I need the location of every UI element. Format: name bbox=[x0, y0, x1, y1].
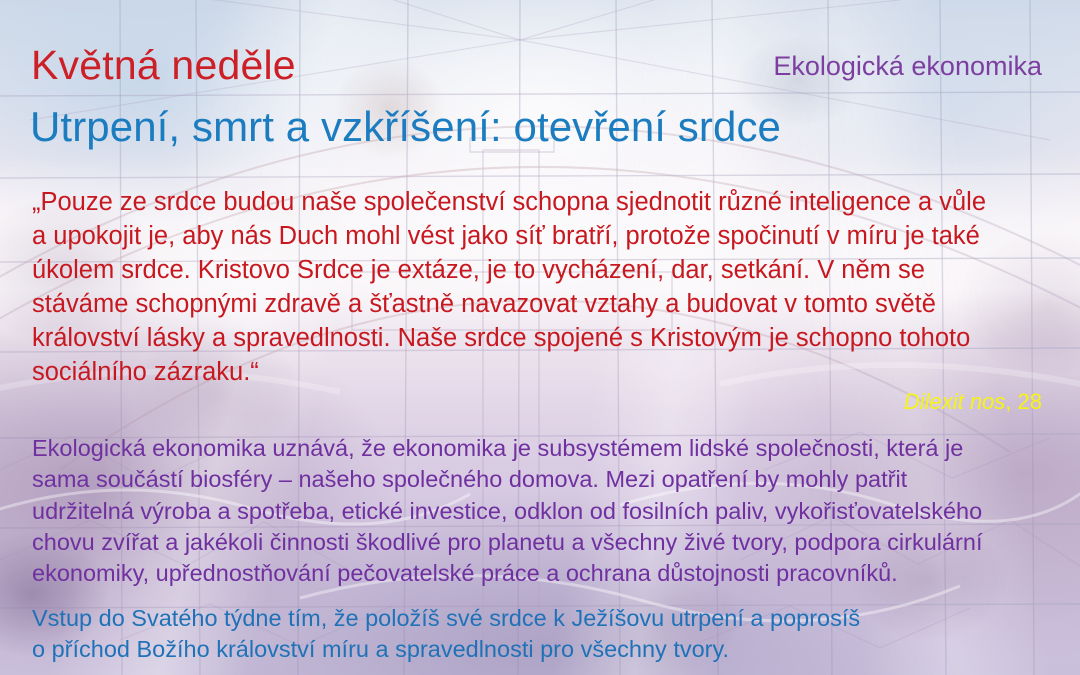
quote-line: stáváme schopnými zdravě a šťastně navaz… bbox=[32, 287, 1052, 321]
quote-line: úkolem srdce. Kristovo Srdce je extáze, … bbox=[32, 253, 1052, 287]
citation-reference: , 28 bbox=[1005, 389, 1042, 414]
slide-canvas: Ekologická ekonomika Květná neděle Utrpe… bbox=[0, 0, 1080, 675]
paragraph-line: udržitelná výroba a spotřeba, etické inv… bbox=[32, 496, 1050, 527]
quote-line: sociálního zázraku.“ bbox=[32, 355, 1052, 389]
topic-label: Ekologická ekonomika bbox=[773, 52, 1042, 82]
paragraph-line: chovu zvířat a jakékoli činnosti škodliv… bbox=[32, 527, 1050, 558]
quote-line: a upokojit je, aby nás Duch mohl vést ja… bbox=[32, 219, 1052, 253]
paragraph-ecological-economics: Ekologická ekonomika uznává, že ekonomik… bbox=[32, 433, 1050, 589]
quote-block: „Pouze ze srdce budou naše společenství … bbox=[32, 185, 1052, 389]
paragraph-line: o příchod Božího království míru a sprav… bbox=[32, 634, 1050, 665]
quote-line: „Pouze ze srdce budou naše společenství … bbox=[32, 185, 1052, 219]
paragraph-line: Vstup do Svatého týdne tím, že položíš s… bbox=[32, 603, 1050, 634]
quote-citation: Dilexit nos, 28 bbox=[904, 389, 1042, 415]
paragraph-call-to-action: Vstup do Svatého týdne tím, že položíš s… bbox=[32, 603, 1050, 666]
citation-work-title: Dilexit nos bbox=[904, 389, 1005, 414]
paragraph-line: ekonomiky, upřednostňování pečovatelské … bbox=[32, 558, 1050, 589]
page-title-primary: Květná neděle bbox=[31, 44, 296, 87]
paragraph-line: sama součástí biosféry – našeho společné… bbox=[32, 464, 1050, 495]
paragraph-line: Ekologická ekonomika uznává, že ekonomik… bbox=[32, 433, 1050, 464]
page-title-secondary: Utrpení, smrt a vzkříšení: otevření srdc… bbox=[30, 105, 781, 149]
quote-line: království lásky a spravedlnosti. Naše s… bbox=[32, 321, 1052, 355]
